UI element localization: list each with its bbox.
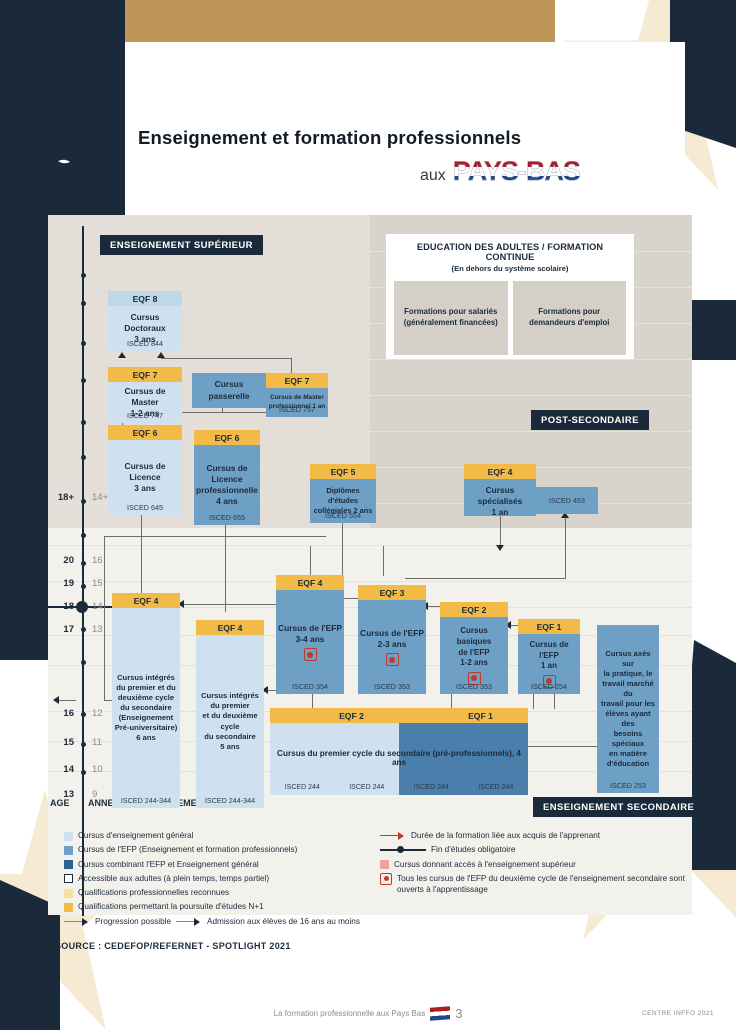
axis-year-11: 11 bbox=[92, 737, 112, 748]
connector bbox=[310, 546, 311, 576]
box-line: Cursus intégrés bbox=[117, 673, 175, 683]
axis-tick bbox=[81, 742, 86, 747]
box-body: ISCED 453 bbox=[536, 487, 598, 514]
arrow-up bbox=[118, 352, 126, 358]
axis-tick bbox=[81, 584, 86, 589]
connector bbox=[104, 700, 112, 701]
isced-code: ISCED 253 bbox=[597, 781, 659, 791]
gridline bbox=[48, 581, 692, 582]
axis-label-age: AGE bbox=[50, 798, 70, 808]
axis-age-18plus: 18+ bbox=[52, 492, 74, 503]
swatch-higher-access-icon bbox=[380, 860, 389, 869]
box-college-diplomas[interactable]: EQF 5 Diplômes d'études collégiales 2 an… bbox=[310, 464, 376, 523]
axis-age-16: 16 bbox=[52, 708, 74, 719]
box-line: travail marché du bbox=[599, 679, 657, 699]
page-number: 3 bbox=[455, 1006, 462, 1021]
apprenticeship-badge-icon bbox=[386, 653, 399, 666]
swatch-general-icon bbox=[64, 832, 73, 841]
cell-label: Formations pour salariés (généralement f… bbox=[396, 307, 506, 328]
isced-code: ISCED 244 bbox=[335, 784, 400, 791]
box-line: Cursus de Master bbox=[110, 386, 180, 408]
box-vet-eqf4[interactable]: EQF 4 Cursus de l'EFP 3-4 ans ISCED 354 bbox=[276, 575, 344, 694]
isced-code: ISCED 244 bbox=[270, 784, 335, 791]
legend-item: Qualifications professionnelles reconnue… bbox=[64, 887, 364, 898]
box-line: Pré-universitaire) bbox=[115, 723, 177, 733]
box-line: deuxième cycle bbox=[118, 693, 174, 703]
legend-label: Cursus de l'EFP (Enseignement et formati… bbox=[78, 844, 297, 855]
box-vet-eqf1[interactable]: EQF 1 Cursus de l'EFP 1 an ISCED 254 bbox=[518, 619, 580, 694]
isced-code: ISCED 453 bbox=[549, 496, 585, 506]
isced-code: ISCED 353 bbox=[440, 682, 508, 692]
arrow-up bbox=[157, 352, 165, 358]
box-line: du secondaire bbox=[120, 703, 171, 713]
adult-education-cell-jobseekers: Formations pour demandeurs d'emploi bbox=[513, 281, 627, 355]
box-line: élèves ayant des bbox=[599, 709, 657, 729]
axis-tick bbox=[81, 378, 86, 383]
swatch-vet-icon bbox=[64, 846, 73, 855]
box-line: 5 ans bbox=[220, 742, 239, 752]
eqf-label-left: EQF 2 bbox=[270, 708, 433, 723]
box-line: 4 ans bbox=[216, 496, 237, 507]
box-line: du premier et du bbox=[116, 683, 176, 693]
legend-column-left: Cursus d'enseignement général Cursus de … bbox=[64, 830, 364, 927]
box-line: 1 an bbox=[492, 507, 509, 518]
adult-education-cells: Formations pour salariés (généralement f… bbox=[394, 281, 626, 355]
box-line: Cursus Doctoraux bbox=[110, 312, 180, 334]
legend: Cursus d'enseignement général Cursus de … bbox=[64, 830, 704, 927]
box-body: Cursus spécialisés 1 an bbox=[464, 479, 536, 516]
box-integrated-secondary-6years[interactable]: EQF 4 Cursus intégrés du premier et du d… bbox=[112, 593, 180, 808]
swatch-mixed-icon bbox=[64, 860, 73, 869]
footer-publisher: CENTRE INFFO 2021 bbox=[642, 1010, 714, 1017]
legend-item: Cursus donnant accès à l'enseignement su… bbox=[380, 859, 704, 870]
box-line: 6 ans bbox=[136, 733, 155, 743]
axis-tick bbox=[81, 420, 86, 425]
legend-label: Accessible aux adultes (à plein temps, t… bbox=[78, 873, 269, 884]
eqf-label: EQF 6 bbox=[108, 425, 182, 440]
box-vet-eqf3[interactable]: EQF 3 Cursus de l'EFP 2-3 ans ISCED 353 bbox=[358, 585, 426, 694]
eqf-label: EQF 6 bbox=[194, 430, 260, 445]
page-subtitle: aux PAYS-BAS bbox=[420, 158, 580, 185]
legend-item: Cursus combinant l'EFP et Enseignement g… bbox=[64, 859, 364, 870]
box-line: Cursus spécialisés bbox=[466, 485, 534, 507]
eqf-label: EQF 2 bbox=[440, 602, 508, 617]
legend-label: Qualifications professionnelles reconnue… bbox=[78, 887, 229, 898]
box-line: en matière bbox=[609, 749, 647, 759]
gridline bbox=[48, 545, 692, 546]
eqf-label: EQF 7 bbox=[108, 367, 182, 382]
isced-code: ISCED 254 bbox=[518, 682, 580, 692]
box-line: de l'EFP bbox=[458, 648, 489, 659]
page-title: Enseignement et formation professionnels bbox=[138, 127, 521, 149]
eqf-label: EQF 4 bbox=[276, 575, 344, 590]
arrow-down bbox=[496, 545, 504, 551]
box-line: besoins spéciaux bbox=[599, 729, 657, 749]
isced-code: ISCED 844 bbox=[108, 339, 182, 349]
axis-tick bbox=[81, 533, 86, 538]
box-doctoral-courses[interactable]: EQF 8 Cursus Doctoraux 3 ans ISCED 844 bbox=[108, 291, 182, 351]
subtitle-aux-word: aux bbox=[420, 167, 446, 185]
legend-label: Tous les cursus de l'EFP du deuxième cyc… bbox=[397, 873, 697, 895]
arrow-left bbox=[53, 696, 59, 704]
source-credit: SOURCE : CEDEFOP/REFERNET - SPOTLIGHT 20… bbox=[55, 941, 291, 951]
legend-item: Fin d'études obligatoire bbox=[380, 844, 704, 855]
connector bbox=[565, 518, 566, 578]
axis-age-19: 19 bbox=[52, 578, 74, 589]
isced-code: ISCED 655 bbox=[194, 513, 260, 523]
box-body: Cursus de l'EFP 3-4 ans ISCED 354 bbox=[276, 590, 344, 694]
eqf-label: EQF 7 bbox=[266, 373, 328, 388]
connector bbox=[161, 358, 292, 359]
legend-item: Cursus d'enseignement général bbox=[64, 830, 364, 841]
box-bachelor-courses[interactable]: EQF 6 Cursus de Licence 3 ans ISCED 645 bbox=[108, 425, 182, 515]
adult-education-cell-employees: Formations pour salariés (généralement f… bbox=[394, 281, 508, 355]
compulsory-end-icon bbox=[380, 845, 426, 854]
axis-tick bbox=[81, 341, 86, 346]
box-master-courses[interactable]: EQF 7 Cursus de Master 1-2 ans ISCED 747 bbox=[108, 367, 182, 423]
box-line: du secondaire bbox=[204, 732, 255, 742]
legend-label: Cursus d'enseignement général bbox=[78, 830, 193, 841]
box-line: 1 an bbox=[541, 661, 557, 672]
connector bbox=[181, 604, 280, 605]
box-line: Cursus de Licence bbox=[110, 461, 180, 483]
box-practice-oriented-courses[interactable]: Cursus axés sur la pratique, le travail … bbox=[597, 625, 659, 793]
box-line: Diplômes d'études bbox=[312, 486, 374, 506]
legend-item: Accessible aux adultes (à plein temps, t… bbox=[64, 873, 364, 884]
axis-age-14: 14 bbox=[52, 764, 74, 775]
box-vet-eqf2[interactable]: EQF 2 Cursus basiques de l'EFP 1-2 ans I… bbox=[440, 602, 508, 694]
box-line: Cursus de l'EFP bbox=[360, 628, 424, 639]
box-body: Cursus de l'EFP 1 an ISCED 254 bbox=[518, 634, 580, 694]
eqf-label: EQF 3 bbox=[358, 585, 426, 600]
eqf-label: EQF 4 bbox=[196, 620, 264, 635]
axis-tick bbox=[81, 627, 86, 632]
eqf-label: EQF 5 bbox=[310, 464, 376, 479]
box-professional-master[interactable]: EQF 7 Cursus de Master professionnel 1 a… bbox=[266, 373, 328, 417]
arrow-admission-icon bbox=[176, 917, 202, 926]
isced-code: ISCED 757 bbox=[266, 405, 328, 415]
box-body: Diplômes d'études collégiales 2 ans ISCE… bbox=[310, 479, 376, 523]
box-line: 3-4 ans bbox=[296, 634, 325, 645]
legend-column-right: Durée de la formation liée aux acquis de… bbox=[364, 830, 704, 927]
isced-code: ISCED 554 bbox=[310, 511, 376, 521]
box-body: Cursus passerelle bbox=[192, 373, 266, 408]
connector bbox=[104, 536, 326, 537]
swatch-open-square-icon bbox=[64, 874, 73, 883]
box-body: Cursus de l'EFP 2-3 ans ISCED 353 bbox=[358, 600, 426, 694]
axis-year-15: 15 bbox=[92, 578, 112, 589]
box-body: Cursus de Licence professionnelle 4 ans … bbox=[194, 445, 260, 525]
axis-age-20: 20 bbox=[52, 555, 74, 566]
arrow-duration-icon bbox=[380, 831, 406, 840]
netherlands-flag-icon bbox=[430, 1006, 450, 1020]
box-line: Cursus intégrés bbox=[201, 691, 259, 701]
section-tag-secondary: ENSEIGNEMENT SECONDAIRE bbox=[533, 797, 704, 817]
box-line: professionnelle bbox=[196, 485, 258, 496]
box-body: Cursus de Licence 3 ans ISCED 645 bbox=[108, 440, 182, 515]
box-line: Cursus basiques bbox=[442, 626, 506, 647]
box-integrated-secondary-5years[interactable]: EQF 4 Cursus intégrés du premier et du d… bbox=[196, 620, 264, 808]
isced-code: ISCED 244 bbox=[464, 784, 529, 791]
legend-label: Cursus combinant l'EFP et Enseignement g… bbox=[78, 859, 259, 870]
box-line: Cursus de Licence bbox=[196, 463, 258, 485]
axis-tick bbox=[81, 455, 86, 460]
eqf-label: EQF 1 bbox=[518, 619, 580, 634]
lower-secondary-body: Cursus du premier cycle du secondaire (p… bbox=[270, 723, 528, 795]
box-line: travail pour les bbox=[601, 699, 655, 709]
axis-year-12: 12 bbox=[92, 708, 112, 719]
legend-label: Cursus donnant accès à l'enseignement su… bbox=[394, 859, 576, 870]
compulsory-education-end-marker-dot bbox=[76, 601, 88, 613]
axis-tick bbox=[81, 499, 86, 504]
connector bbox=[56, 700, 76, 701]
legend-item: Cursus de l'EFP (Enseignement et formati… bbox=[64, 844, 364, 855]
legend-item: Tous les cursus de l'EFP du deuxième cyc… bbox=[380, 873, 704, 895]
box-body: Cursus basiques de l'EFP 1-2 ans ISCED 3… bbox=[440, 617, 508, 694]
apprenticeship-badge-icon bbox=[304, 648, 317, 661]
swatch-gold-icon bbox=[64, 903, 73, 912]
legend-progression-row: Progression possible Admission aux élève… bbox=[64, 916, 364, 927]
box-body: Cursus intégrés du premier et du deuxièm… bbox=[112, 608, 180, 808]
box-professional-bachelor[interactable]: EQF 6 Cursus de Licence professionnelle … bbox=[194, 430, 260, 525]
isced-code: ISCED 645 bbox=[108, 503, 182, 513]
box-body: Cursus axés sur la pratique, le travail … bbox=[597, 625, 659, 793]
axis-age-17: 17 bbox=[52, 624, 74, 635]
axis-age-15: 15 bbox=[52, 737, 74, 748]
decorative-tan-band bbox=[125, 0, 555, 42]
footer: La formation professionnelle aux Pays Ba… bbox=[0, 1006, 736, 1021]
section-tag-higher-education: ENSEIGNEMENT SUPÉRIEUR bbox=[100, 235, 263, 255]
lower-secondary-header: EQF 2 EQF 1 bbox=[270, 708, 528, 723]
box-line: Cursus de l'EFP bbox=[520, 640, 578, 661]
box-line: cycle bbox=[220, 722, 239, 732]
adult-education-panel: EDUCATION DES ADULTES / FORMATION CONTIN… bbox=[386, 234, 634, 359]
connector bbox=[342, 516, 343, 578]
decorative-navy-right-mid bbox=[690, 300, 736, 360]
connector bbox=[405, 578, 566, 579]
isced-code: ISCED 353 bbox=[358, 682, 426, 692]
cell-label: Formations pour demandeurs d'emploi bbox=[515, 307, 625, 328]
adult-education-subtitle: (En dehors du système scolaire) bbox=[394, 264, 626, 273]
eqf-label: EQF 4 bbox=[112, 593, 180, 608]
legend-label: Durée de la formation liée aux acquis de… bbox=[411, 830, 600, 841]
country-name: PAYS-BAS bbox=[453, 158, 580, 185]
box-body: Cursus de Master 1-2 ans ISCED 747 bbox=[108, 382, 182, 423]
box-bridging-courses[interactable]: Cursus passerelle bbox=[192, 373, 266, 408]
adult-education-title: EDUCATION DES ADULTES / FORMATION CONTIN… bbox=[394, 242, 626, 262]
axis-year-13: 13 bbox=[92, 624, 112, 635]
legend-item: Qualifications permettant la poursuite d… bbox=[64, 901, 364, 912]
age-axis-line bbox=[82, 226, 84, 916]
box-specialised-isced-extension: ISCED 453 bbox=[536, 487, 598, 514]
legend-item: Durée de la formation liée aux acquis de… bbox=[380, 830, 704, 841]
eqf-label: EQF 4 bbox=[464, 464, 536, 479]
arrow-progression-icon bbox=[64, 917, 90, 926]
box-lower-secondary-prevocational[interactable]: EQF 2 EQF 1 Cursus du premier cycle du s… bbox=[270, 708, 528, 795]
isced-code: ISCED 354 bbox=[276, 682, 344, 692]
axis-age-18: 18 bbox=[52, 601, 74, 612]
axis-tick bbox=[81, 273, 86, 278]
box-line: Cursus axés sur bbox=[599, 649, 657, 669]
axis-tick bbox=[81, 660, 86, 665]
box-body: Cursus Doctoraux 3 ans ISCED 844 bbox=[108, 306, 182, 351]
box-line: (Enseignement bbox=[119, 713, 173, 723]
eqf-label-right: EQF 1 bbox=[433, 708, 528, 723]
axis-tick bbox=[81, 561, 86, 566]
box-line: 1-2 ans bbox=[460, 658, 488, 669]
axis-year-10: 10 bbox=[92, 764, 112, 775]
legend-label: Admission aux élèves de 16 ans au moins bbox=[207, 916, 360, 927]
axis-tick bbox=[81, 712, 86, 717]
isced-code: ISCED 244-344 bbox=[196, 796, 264, 806]
isced-code: ISCED 244-344 bbox=[112, 796, 180, 806]
box-line: Cursus de l'EFP bbox=[278, 623, 342, 634]
apprenticeship-badge-icon bbox=[380, 873, 392, 885]
box-body: Cursus intégrés du premier et du deuxièm… bbox=[196, 635, 264, 808]
section-tag-post-secondary: POST-SECONDAIRE bbox=[531, 410, 649, 430]
isced-code: ISCED 747 bbox=[108, 411, 182, 421]
box-line: du premier bbox=[210, 701, 249, 711]
axis-tick bbox=[81, 301, 86, 306]
legend-label: Progression possible bbox=[95, 916, 171, 927]
gridline bbox=[48, 359, 692, 360]
page-header: Enseignement et formation professionnels… bbox=[0, 55, 736, 185]
box-line: 3 ans bbox=[134, 483, 155, 494]
box-line: d'éducation bbox=[607, 759, 649, 769]
connector bbox=[383, 546, 384, 576]
axis-year-14: 14 bbox=[92, 601, 112, 612]
legend-label: Qualifications permettant la poursuite d… bbox=[78, 901, 264, 912]
box-line: Cursus passerelle bbox=[194, 379, 264, 401]
axis-tick bbox=[81, 770, 86, 775]
box-body: Cursus de Master professionnel 1 an ISCE… bbox=[266, 388, 328, 417]
lower-secondary-isced-row: ISCED 244 ISCED 244 ISCED 244 ISCED 244 bbox=[270, 784, 528, 791]
box-line: la pratique, le bbox=[604, 669, 653, 679]
connector bbox=[104, 536, 105, 700]
lower-secondary-title: Cursus du premier cycle du secondaire (p… bbox=[270, 749, 528, 767]
box-line: et du deuxième bbox=[202, 711, 257, 721]
box-specialised-courses[interactable]: EQF 4 Cursus spécialisés 1 an bbox=[464, 464, 536, 516]
box-line: 2-3 ans bbox=[378, 639, 407, 650]
swatch-gold-light-icon bbox=[64, 889, 73, 898]
box-line: Cursus de Master bbox=[270, 394, 324, 402]
legend-label: Fin d'études obligatoire bbox=[431, 844, 515, 855]
footer-title: La formation professionnelle aux Pays Ba… bbox=[274, 1009, 426, 1018]
axis-year-16: 16 bbox=[92, 555, 112, 566]
isced-code: ISCED 244 bbox=[399, 784, 464, 791]
eqf-label: EQF 8 bbox=[108, 291, 182, 306]
